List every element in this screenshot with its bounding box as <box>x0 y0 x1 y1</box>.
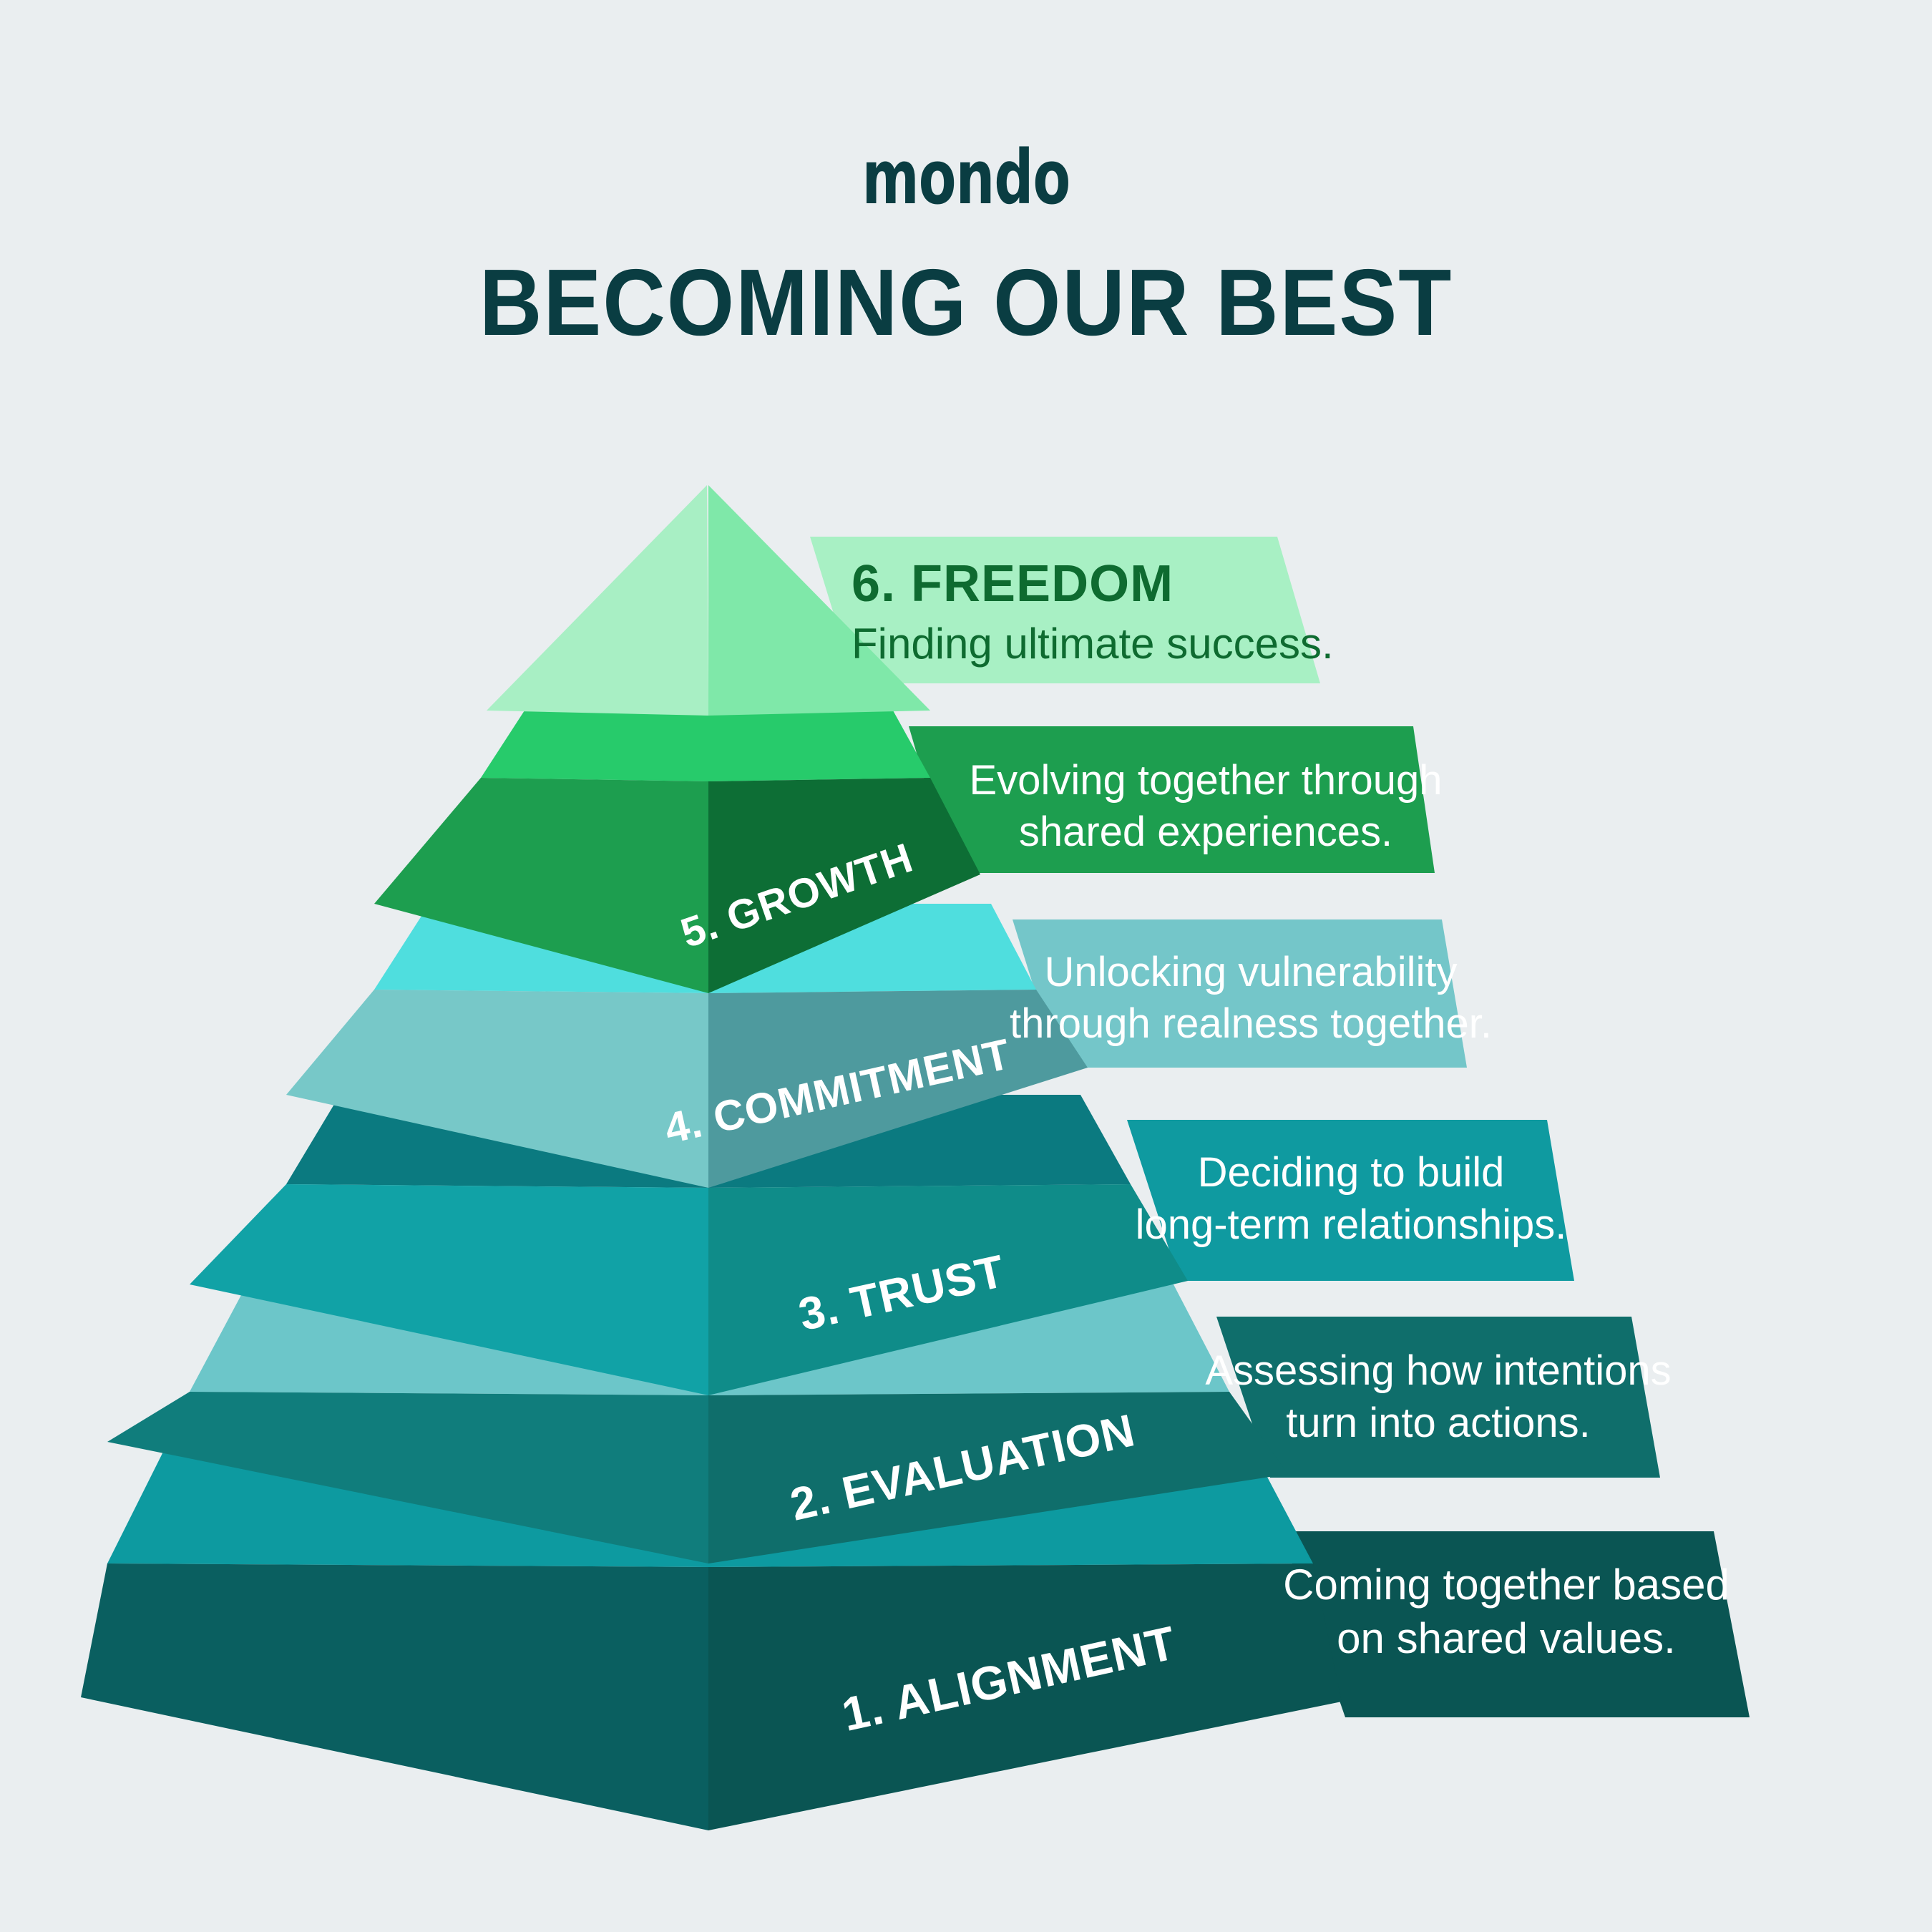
banner-line1-alignment: Coming together based <box>1283 1561 1729 1609</box>
banner-line1-growth: Evolving together through <box>970 757 1443 804</box>
level-top-cap-growth-l <box>481 711 708 781</box>
banner-line1-evaluation: Assessing how intentions <box>1205 1347 1671 1394</box>
level-top-cap-growth-r <box>708 711 930 781</box>
pyramid-level-freedom[interactable]: 6. FREEDOM Finding ultimate success. <box>487 485 1334 716</box>
level-left-face-freedom-full[interactable] <box>487 485 708 716</box>
banner-trust[interactable] <box>1127 1120 1574 1281</box>
banner-line1-commitment: Unlocking vulnerability <box>1044 949 1457 995</box>
level-left-face-alignment[interactable] <box>81 1563 708 1830</box>
banner-line1-trust: Deciding to build <box>1198 1149 1505 1196</box>
banner-line2-growth: shared experiences. <box>1019 809 1392 855</box>
banner-line2-evaluation: turn into actions. <box>1286 1400 1591 1446</box>
banner-evaluation[interactable] <box>1216 1317 1660 1478</box>
pyramid-diagram: 1. ALIGNMENT Coming together based on sh… <box>0 0 1932 1932</box>
banner-line1-freedom: Finding ultimate success. <box>852 620 1334 668</box>
banner-line2-commitment: through realness together. <box>1010 1000 1492 1047</box>
level-banner-label-freedom: 6. FREEDOM <box>852 555 1174 613</box>
banner-line2-alignment: on shared values. <box>1337 1614 1676 1662</box>
banner-line2-trust: long-term relationships. <box>1136 1201 1567 1248</box>
infographic-canvas: mondo BECOMING OUR BEST 1. ALIGNMENT Com… <box>0 0 1932 1932</box>
